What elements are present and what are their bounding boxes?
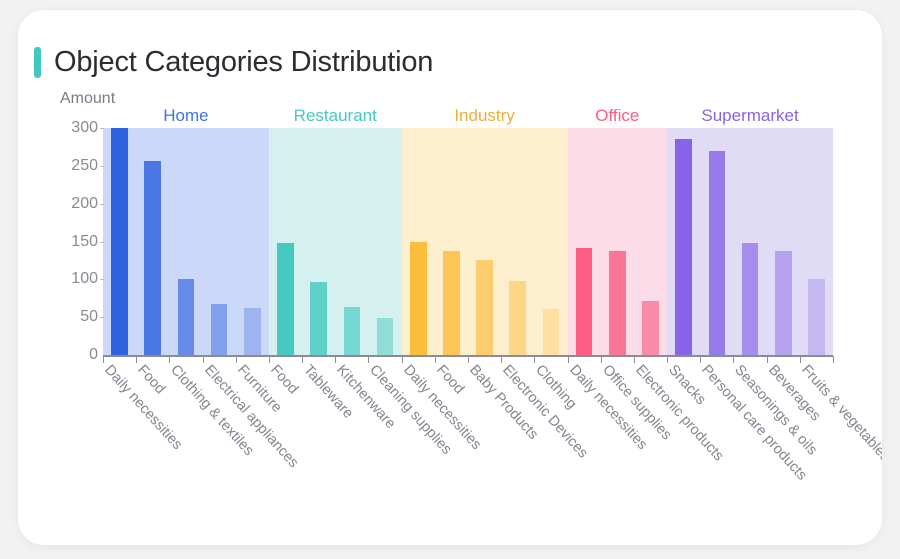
bar[interactable] [576,248,593,355]
group-label-row: HomeRestaurantIndustryOfficeSupermarket [18,106,882,130]
x-tick-mark [733,356,734,363]
y-tick-label: 250 [71,157,98,175]
y-tick-label: 100 [71,270,98,288]
y-tick-mark [100,279,104,280]
y-tick-label: 150 [71,233,98,251]
x-tick-mark [269,356,270,363]
y-tick-mark [100,128,104,129]
chart-plot-wrapper: Amount HomeRestaurantIndustryOfficeSuper… [18,10,882,545]
bar[interactable] [211,304,228,355]
x-tick-mark [468,356,469,363]
plot-area [103,128,833,355]
bar[interactable] [709,151,726,355]
x-tick-mark [601,356,602,363]
x-tick-mark [136,356,137,363]
bar[interactable] [244,308,261,355]
group-label-restaurant: Restaurant [294,106,377,126]
group-label-industry: Industry [454,106,514,126]
bar[interactable] [476,260,493,355]
bar[interactable] [642,301,659,355]
y-tick-label: 50 [80,308,98,326]
bar[interactable] [344,307,361,355]
x-tick-mark [767,356,768,363]
bar[interactable] [377,318,394,355]
group-label-home: Home [163,106,208,126]
y-tick-label: 300 [71,119,98,137]
x-tick-mark [634,356,635,363]
x-tick-mark [501,356,502,363]
bar[interactable] [111,128,128,355]
bar[interactable] [443,251,460,355]
x-tick-mark [667,356,668,363]
x-axis-labels: Daily necessitiesFoodClothing & textiles… [18,362,882,542]
group-label-supermarket: Supermarket [701,106,798,126]
y-tick-mark [100,204,104,205]
y-tick-mark [100,166,104,167]
x-tick-mark [103,356,104,363]
bar[interactable] [675,139,692,355]
bar[interactable] [509,281,526,355]
x-tick-mark [302,356,303,363]
x-tick-mark [402,356,403,363]
chart-card: Object Categories Distribution Amount Ho… [18,10,882,545]
x-tick-mark [203,356,204,363]
group-label-office: Office [595,106,639,126]
bar[interactable] [609,251,626,355]
bar[interactable] [742,243,759,355]
bar[interactable] [277,243,294,355]
y-tick-mark [100,242,104,243]
bar[interactable] [775,251,792,355]
x-tick-mark [435,356,436,363]
bar[interactable] [410,242,427,356]
bar[interactable] [144,161,161,355]
x-tick-mark [833,356,834,363]
bar[interactable] [808,279,825,355]
bar[interactable] [543,309,560,355]
x-tick-mark [534,356,535,363]
bar[interactable] [310,282,327,355]
x-tick-mark [335,356,336,363]
y-tick-mark [100,317,104,318]
x-tick-mark [568,356,569,363]
x-tick-mark [169,356,170,363]
y-tick-label: 200 [71,195,98,213]
y-axis-ticks: 050100150200250300 [48,128,98,355]
x-tick-mark [368,356,369,363]
x-tick-mark [800,356,801,363]
x-tick-mark [236,356,237,363]
bar[interactable] [178,279,195,355]
x-tick-mark [700,356,701,363]
